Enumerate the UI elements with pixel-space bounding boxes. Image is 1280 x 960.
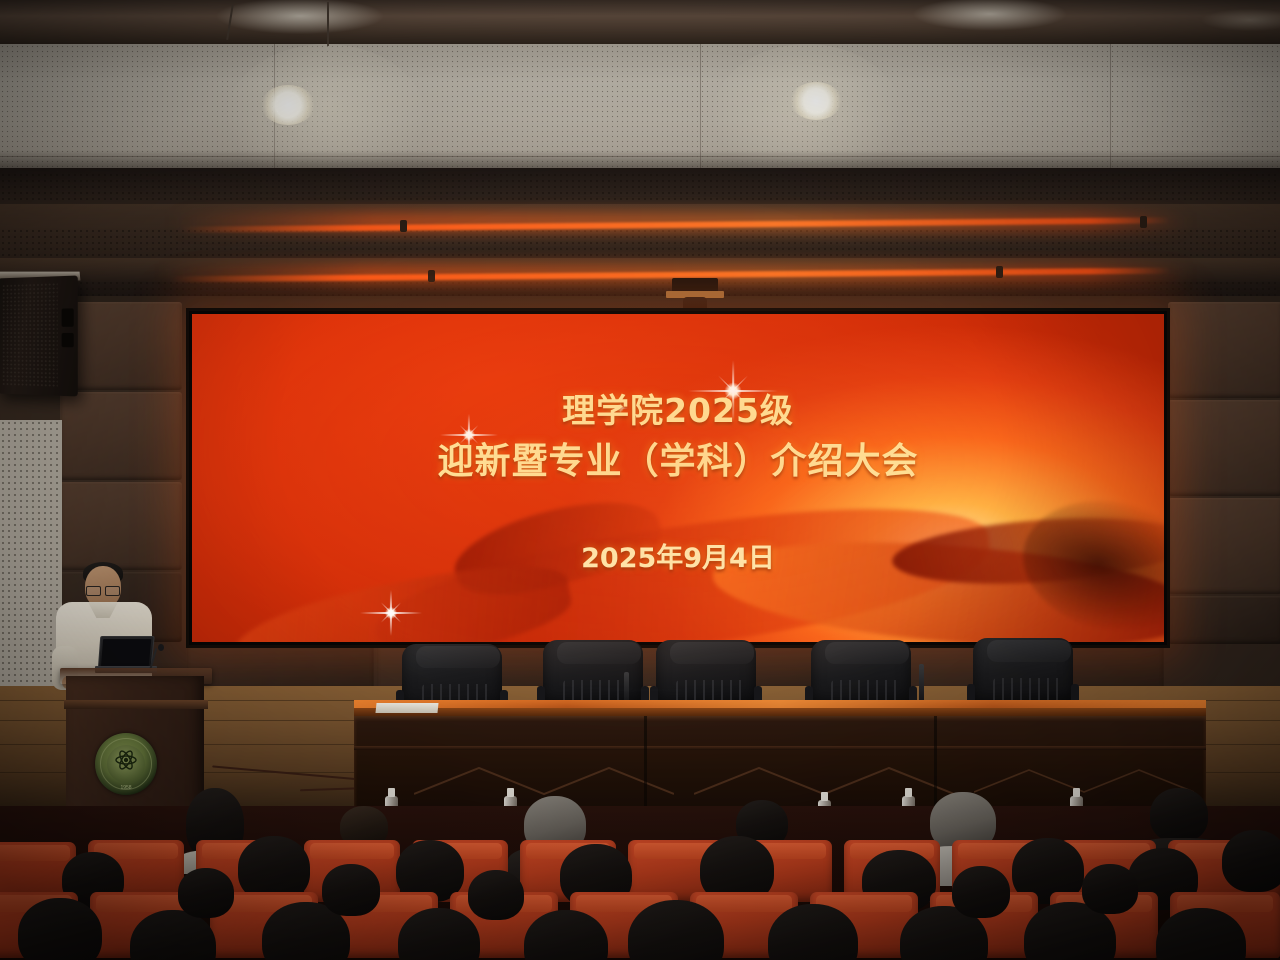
screen-content: 理学院2025级 迎新暨专业（学科）介绍大会 2025年9月4日	[192, 314, 1164, 642]
strip-mount	[400, 220, 407, 232]
laptop-screen[interactable]	[98, 636, 155, 670]
screen-title-line-1: 理学院2025级	[192, 384, 1164, 432]
strip-mount	[996, 266, 1003, 278]
wall-pad	[1168, 596, 1280, 644]
audience-area	[0, 806, 1280, 960]
audience-head	[1150, 788, 1208, 842]
emblem-inner-disc	[107, 745, 145, 783]
university-emblem: 1958	[95, 733, 157, 795]
glasses-icon	[86, 586, 120, 594]
camera-bracket	[672, 278, 718, 292]
wall-pad	[60, 302, 182, 390]
speaker-grille	[2, 282, 58, 387]
audience-head	[178, 868, 234, 918]
audience-head	[18, 898, 102, 960]
audience-head	[1222, 830, 1280, 892]
name-card	[375, 703, 438, 713]
ceiling-downlight	[261, 85, 315, 125]
wall-pad	[1168, 400, 1280, 496]
ceiling-downlight	[790, 82, 842, 120]
table-sheen	[354, 700, 1206, 708]
audience-head	[468, 870, 524, 920]
wall-pad	[1168, 302, 1280, 398]
wall-perforated-band	[0, 172, 1280, 204]
table-microphone-stem	[919, 664, 924, 704]
podium-microphone-head	[158, 644, 164, 651]
table-zigzag-inlay	[414, 764, 674, 798]
laptop-display	[101, 639, 151, 667]
atom-icon	[114, 748, 138, 772]
upper-wall-band-area	[0, 168, 1280, 300]
audience-head	[322, 864, 380, 916]
ceiling-hanger-rod	[327, 2, 329, 46]
screen-title-line-2: 迎新暨专业（学科）介绍大会	[192, 432, 1164, 484]
audience-head	[1082, 864, 1138, 914]
auditorium-photo: 理学院2025级 迎新暨专业（学科）介绍大会 2025年9月4日	[0, 0, 1280, 960]
screen-event-date: 2025年9月4日	[192, 536, 1164, 575]
speaker-port	[62, 333, 74, 347]
strip-mount	[428, 270, 435, 282]
podium-shelf-edge	[64, 700, 208, 709]
wall-pad	[60, 482, 182, 570]
wall-pad	[60, 392, 182, 480]
wall-loudspeaker	[0, 275, 78, 396]
ceiling-dark-beam	[0, 0, 1280, 46]
audience-head	[952, 866, 1010, 918]
wall-pad	[1168, 498, 1280, 594]
speaker-port	[62, 308, 74, 326]
led-display-screen[interactable]: 理学院2025级 迎新暨专业（学科）介绍大会 2025年9月4日	[186, 308, 1170, 648]
strip-mount	[1140, 216, 1147, 228]
table-moulding	[354, 746, 1206, 750]
emblem-founding-year: 1958	[95, 785, 157, 791]
